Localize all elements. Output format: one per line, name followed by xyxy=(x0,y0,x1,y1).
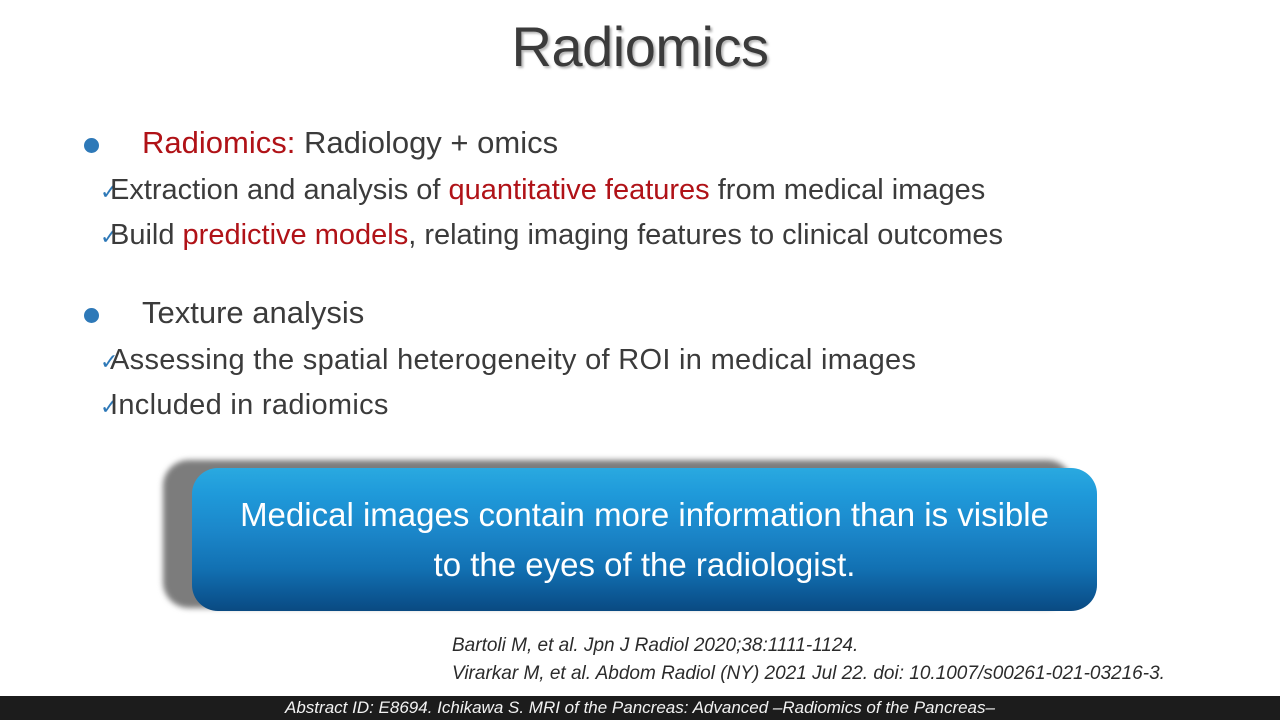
check-item-extraction-part1: Extraction and analysis of xyxy=(110,174,449,206)
check-mark-icon: ✓ xyxy=(72,386,110,431)
check-item-build-part1: Build xyxy=(110,219,183,251)
callout-banner: Medical images contain more information … xyxy=(163,460,1098,615)
citation-line: Bartoli M, et al. Jpn J Radiol 2020;38:1… xyxy=(452,632,1280,660)
citation-line: Virarkar M, et al. Abdom Radiol (NY) 202… xyxy=(452,660,1280,688)
check-item-extraction: ✓ Extraction and analysis of quantitativ… xyxy=(72,168,1262,213)
bullet-dot-icon xyxy=(72,121,142,171)
check-item-build-highlight: predictive models xyxy=(183,219,409,251)
check-item-included: ✓ Included in radiomics xyxy=(72,383,1262,428)
check-mark-icon: ✓ xyxy=(72,341,110,386)
bullet-item-texture-label: Texture analysis xyxy=(142,288,364,338)
footer-bar: Abstract ID: E8694. Ichikawa S. MRI of t… xyxy=(0,696,1280,720)
check-item-build-text: Build predictive models, relating imagin… xyxy=(110,213,1003,258)
footer-text: Abstract ID: E8694. Ichikawa S. MRI of t… xyxy=(285,698,995,718)
check-item-included-text: Included in radiomics xyxy=(110,383,389,428)
bullet-item-radiomics-text: Radiomics: Radiology + omics xyxy=(142,118,558,168)
bullet-item-radiomics: Radiomics: Radiology + omics xyxy=(72,118,1262,168)
check-item-extraction-highlight: quantitative features xyxy=(449,174,710,206)
check-item-extraction-text: Extraction and analysis of quantitative … xyxy=(110,168,985,213)
bullet-item-texture: Texture analysis xyxy=(72,288,1262,338)
bullet-item-radiomics-label: Radiomics: xyxy=(142,125,295,160)
check-item-extraction-part2: from medical images xyxy=(710,174,986,206)
body-spacer xyxy=(72,258,1262,288)
check-item-assessing-text: Assessing the spatial heterogeneity of R… xyxy=(110,338,916,383)
slide-body: Radiomics: Radiology + omics ✓ Extractio… xyxy=(72,118,1262,428)
page-title: Radiomics xyxy=(0,14,1280,79)
bullet-item-radiomics-rest: Radiology + omics xyxy=(295,125,558,160)
bullet-dot-icon xyxy=(72,291,142,341)
check-mark-icon: ✓ xyxy=(72,216,110,261)
check-item-build-part2: , relating imaging features to clinical … xyxy=(408,219,1003,251)
callout-text: Medical images contain more information … xyxy=(226,490,1063,590)
check-item-build: ✓ Build predictive models, relating imag… xyxy=(72,213,1262,258)
check-item-assessing: ✓ Assessing the spatial heterogeneity of… xyxy=(72,338,1262,383)
citation-list: Bartoli M, et al. Jpn J Radiol 2020;38:1… xyxy=(452,632,1280,688)
check-mark-icon: ✓ xyxy=(72,171,110,216)
slide-canvas: Radiomics Radiomics: Radiology + omics ✓… xyxy=(0,0,1280,720)
callout-box: Medical images contain more information … xyxy=(192,468,1097,611)
